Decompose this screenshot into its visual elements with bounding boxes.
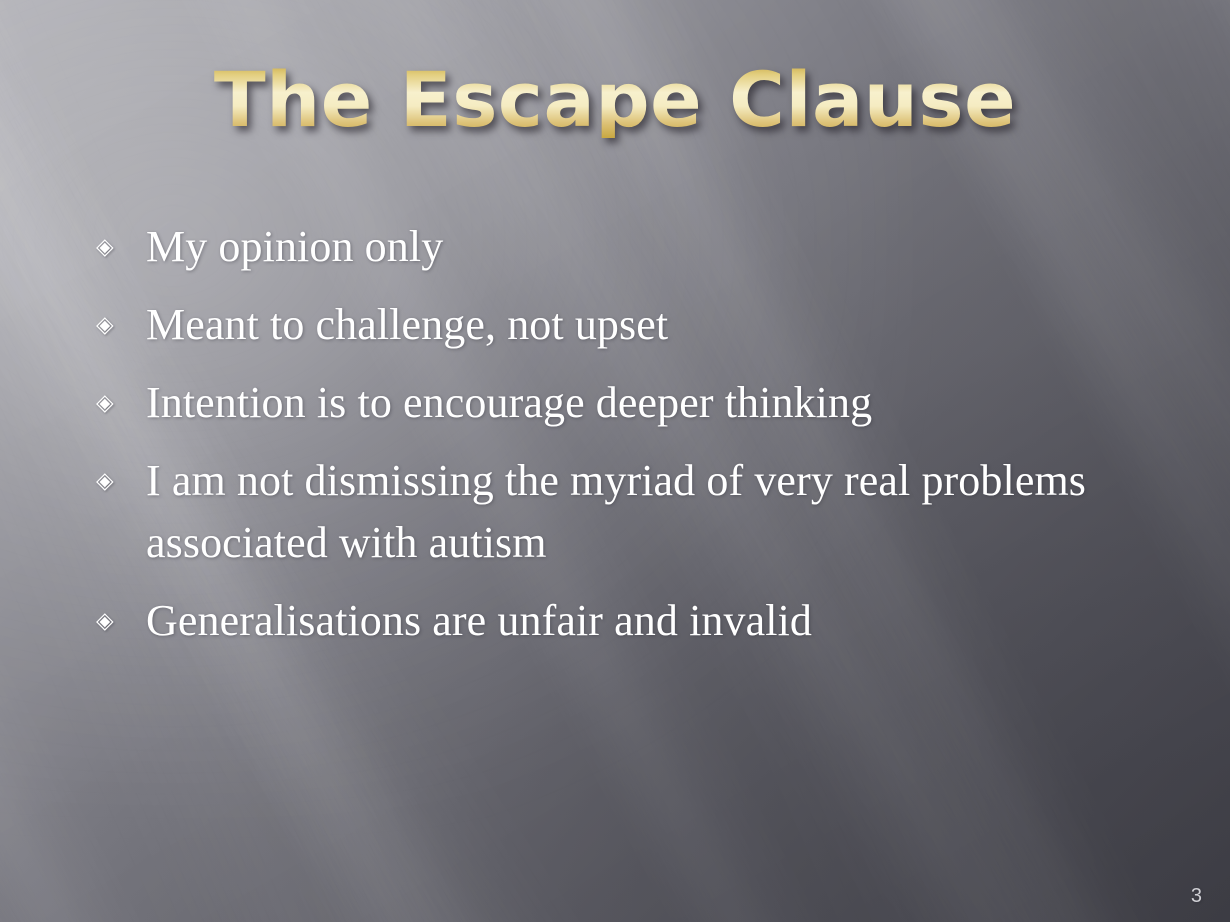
diamond-bullet-icon: ◈ (92, 294, 146, 356)
slide-title-container: The Escape Clause (0, 62, 1230, 138)
page-number: 3 (1191, 886, 1202, 906)
bullet-text: Intention is to encourage deeper thinkin… (146, 372, 1102, 434)
list-item: ◈ Intention is to encourage deeper think… (92, 372, 1102, 434)
diamond-bullet-icon: ◈ (92, 372, 146, 434)
list-item: ◈ I am not dismissing the myriad of very… (92, 450, 1102, 574)
diamond-bullet-icon: ◈ (92, 590, 146, 652)
list-item: ◈ Generalisations are unfair and invalid (92, 590, 1102, 652)
bullet-text: I am not dismissing the myriad of very r… (146, 450, 1102, 574)
slide-canvas: The Escape Clause ◈ My opinion only ◈ Me… (0, 0, 1230, 922)
bullet-list: ◈ My opinion only ◈ Meant to challenge, … (92, 216, 1102, 668)
slide-title: The Escape Clause (214, 62, 1016, 138)
list-item: ◈ My opinion only (92, 216, 1102, 278)
bullet-text: Generalisations are unfair and invalid (146, 590, 1102, 652)
bullet-text: Meant to challenge, not upset (146, 294, 1102, 356)
bullet-text: My opinion only (146, 216, 1102, 278)
diamond-bullet-icon: ◈ (92, 216, 146, 278)
diamond-bullet-icon: ◈ (92, 450, 146, 512)
list-item: ◈ Meant to challenge, not upset (92, 294, 1102, 356)
